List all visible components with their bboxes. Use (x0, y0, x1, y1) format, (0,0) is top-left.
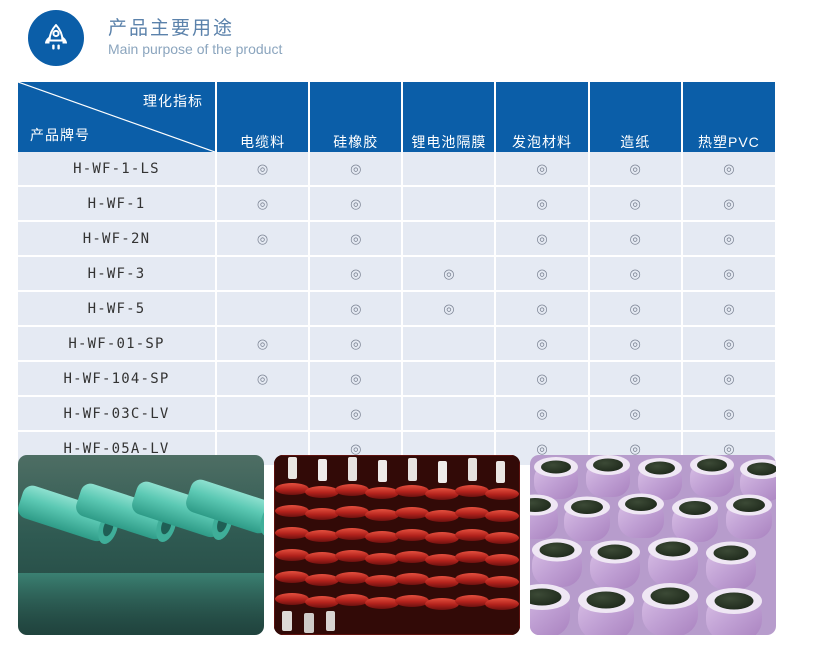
usage-cell: ◎ (589, 152, 682, 186)
usage-cell: ◎ (309, 152, 402, 186)
usage-cell: ◎ (216, 361, 309, 396)
column-header-lithium-battery-separator: 锂电池隔膜 (402, 82, 495, 152)
usage-mark-icon: ◎ (630, 372, 641, 385)
column-header-cable-material: 电缆料 (216, 82, 309, 152)
usage-mark-icon: ◎ (630, 442, 641, 455)
product-name-cell: H-WF-03C-LV (18, 396, 216, 431)
page-title-cn: 产品主要用途 (108, 19, 282, 38)
usage-cell: ◎ (589, 291, 682, 326)
product-name-cell: H-WF-5 (18, 291, 216, 326)
usage-cell: ◎ (402, 326, 495, 361)
usage-mark-icon: ◎ (723, 302, 734, 315)
usage-mark-icon: ◎ (723, 407, 734, 420)
usage-mark-icon: ◎ (257, 162, 268, 175)
usage-mark-icon: ◎ (723, 232, 734, 245)
usage-mark-icon: ◎ (350, 302, 361, 315)
table-row: H-WF-2N◎◎◎◎◎◎ (18, 221, 775, 256)
usage-cell: ◎ (402, 291, 495, 326)
rocket-icon (28, 10, 84, 66)
usage-cell: ◎ (495, 186, 588, 221)
usage-cell: ◎ (682, 361, 775, 396)
usage-cell: ◎ (402, 396, 495, 431)
corner-label-property: 理化指标 (143, 91, 203, 111)
usage-cell: ◎ (402, 256, 495, 291)
photo-green-tubes (18, 455, 264, 635)
usage-mark-icon: ◎ (257, 197, 268, 210)
usage-cell: ◎ (402, 152, 495, 186)
product-name-cell: H-WF-1-LS (18, 152, 216, 186)
usage-mark-icon: ◎ (630, 267, 641, 280)
usage-cell: ◎ (216, 396, 309, 431)
usage-cell: ◎ (309, 291, 402, 326)
usage-mark-icon: ◎ (536, 407, 547, 420)
usage-cell: ◎ (402, 361, 495, 396)
usage-mark-icon: ◎ (350, 442, 361, 455)
usage-mark-icon: ◎ (536, 162, 547, 175)
column-header-silicone-rubber: 硅橡胶 (309, 82, 402, 152)
usage-cell: ◎ (682, 221, 775, 256)
usage-mark-icon: ◎ (723, 372, 734, 385)
usage-mark-icon: ◎ (443, 302, 454, 315)
usage-mark-icon: ◎ (350, 232, 361, 245)
usage-mark-icon: ◎ (630, 232, 641, 245)
usage-mark-icon: ◎ (723, 337, 734, 350)
usage-cell: ◎ (682, 186, 775, 221)
usage-mark-icon: ◎ (536, 442, 547, 455)
usage-matrix-container: 理化指标 产品牌号 电缆料 硅橡胶 锂电池隔膜 发泡材料 造纸 热塑PVC H-… (18, 82, 775, 465)
usage-cell: ◎ (495, 396, 588, 431)
table-header: 理化指标 产品牌号 电缆料 硅橡胶 锂电池隔膜 发泡材料 造纸 热塑PVC (18, 82, 775, 152)
table-row: H-WF-1-LS◎◎◎◎◎◎ (18, 152, 775, 186)
usage-cell: ◎ (309, 221, 402, 256)
product-name-cell: H-WF-1 (18, 186, 216, 221)
product-name-cell: H-WF-104-SP (18, 361, 216, 396)
usage-mark-icon: ◎ (536, 232, 547, 245)
usage-cell: ◎ (589, 361, 682, 396)
usage-cell: ◎ (495, 361, 588, 396)
usage-cell: ◎ (589, 326, 682, 361)
usage-mark-icon: ◎ (723, 442, 734, 455)
usage-cell: ◎ (589, 221, 682, 256)
page-title-en: Main purpose of the product (108, 42, 282, 56)
usage-cell: ◎ (309, 256, 402, 291)
header-text-block: 产品主要用途 Main purpose of the product (108, 19, 282, 56)
column-header-foaming-material: 发泡材料 (495, 82, 588, 152)
corner-label-brand: 产品牌号 (30, 125, 90, 145)
photo-purple-batteries (530, 455, 776, 635)
usage-mark-icon: ◎ (630, 162, 641, 175)
usage-cell: ◎ (216, 186, 309, 221)
usage-cell: ◎ (682, 396, 775, 431)
usage-cell: ◎ (589, 396, 682, 431)
usage-cell: ◎ (495, 291, 588, 326)
product-name-cell: H-WF-01-SP (18, 326, 216, 361)
table-header-row: 理化指标 产品牌号 电缆料 硅橡胶 锂电池隔膜 发泡材料 造纸 热塑PVC (18, 82, 775, 152)
usage-cell: ◎ (402, 186, 495, 221)
usage-cell: ◎ (309, 186, 402, 221)
usage-mark-icon: ◎ (350, 372, 361, 385)
product-name-cell: H-WF-2N (18, 221, 216, 256)
usage-mark-icon: ◎ (630, 407, 641, 420)
page-header: 产品主要用途 Main purpose of the product (0, 0, 837, 75)
table-row: H-WF-5◎◎◎◎◎◎ (18, 291, 775, 326)
usage-cell: ◎ (495, 221, 588, 256)
usage-cell: ◎ (216, 256, 309, 291)
table-row: H-WF-1◎◎◎◎◎◎ (18, 186, 775, 221)
matrix-corner-cell: 理化指标 产品牌号 (18, 82, 216, 152)
photo-red-insulators (274, 455, 520, 635)
usage-cell: ◎ (495, 326, 588, 361)
column-header-papermaking: 造纸 (589, 82, 682, 152)
usage-mark-icon: ◎ (723, 197, 734, 210)
usage-cell: ◎ (682, 152, 775, 186)
usage-mark-icon: ◎ (350, 337, 361, 350)
usage-cell: ◎ (216, 291, 309, 326)
table-row: H-WF-01-SP◎◎◎◎◎◎ (18, 326, 775, 361)
product-name-cell: H-WF-3 (18, 256, 216, 291)
table-row: H-WF-3◎◎◎◎◎◎ (18, 256, 775, 291)
usage-mark-icon: ◎ (257, 337, 268, 350)
usage-mark-icon: ◎ (350, 407, 361, 420)
usage-cell: ◎ (682, 291, 775, 326)
table-row: H-WF-03C-LV◎◎◎◎◎◎ (18, 396, 775, 431)
usage-cell: ◎ (216, 221, 309, 256)
usage-cell: ◎ (216, 326, 309, 361)
usage-mark-icon: ◎ (630, 337, 641, 350)
usage-cell: ◎ (309, 396, 402, 431)
usage-mark-icon: ◎ (443, 267, 454, 280)
usage-mark-icon: ◎ (536, 337, 547, 350)
usage-mark-icon: ◎ (536, 372, 547, 385)
usage-cell: ◎ (589, 256, 682, 291)
usage-mark-icon: ◎ (630, 302, 641, 315)
usage-matrix-table: 理化指标 产品牌号 电缆料 硅橡胶 锂电池隔膜 发泡材料 造纸 热塑PVC H-… (18, 82, 775, 465)
usage-mark-icon: ◎ (257, 232, 268, 245)
usage-mark-icon: ◎ (630, 197, 641, 210)
usage-cell: ◎ (402, 221, 495, 256)
table-row: H-WF-104-SP◎◎◎◎◎◎ (18, 361, 775, 396)
column-header-thermoplastic-pvc: 热塑PVC (682, 82, 775, 152)
usage-mark-icon: ◎ (723, 267, 734, 280)
usage-mark-icon: ◎ (536, 302, 547, 315)
usage-cell: ◎ (495, 152, 588, 186)
usage-mark-icon: ◎ (536, 267, 547, 280)
usage-mark-icon: ◎ (536, 197, 547, 210)
usage-mark-icon: ◎ (350, 197, 361, 210)
usage-cell: ◎ (495, 256, 588, 291)
usage-cell: ◎ (216, 152, 309, 186)
usage-mark-icon: ◎ (723, 162, 734, 175)
usage-cell: ◎ (309, 361, 402, 396)
usage-cell: ◎ (682, 326, 775, 361)
product-photo-strip (18, 455, 775, 635)
usage-mark-icon: ◎ (257, 372, 268, 385)
usage-cell: ◎ (682, 256, 775, 291)
table-body: H-WF-1-LS◎◎◎◎◎◎H-WF-1◎◎◎◎◎◎H-WF-2N◎◎◎◎◎◎… (18, 152, 775, 465)
usage-mark-icon: ◎ (350, 162, 361, 175)
usage-cell: ◎ (589, 186, 682, 221)
usage-cell: ◎ (309, 326, 402, 361)
usage-mark-icon: ◎ (350, 267, 361, 280)
